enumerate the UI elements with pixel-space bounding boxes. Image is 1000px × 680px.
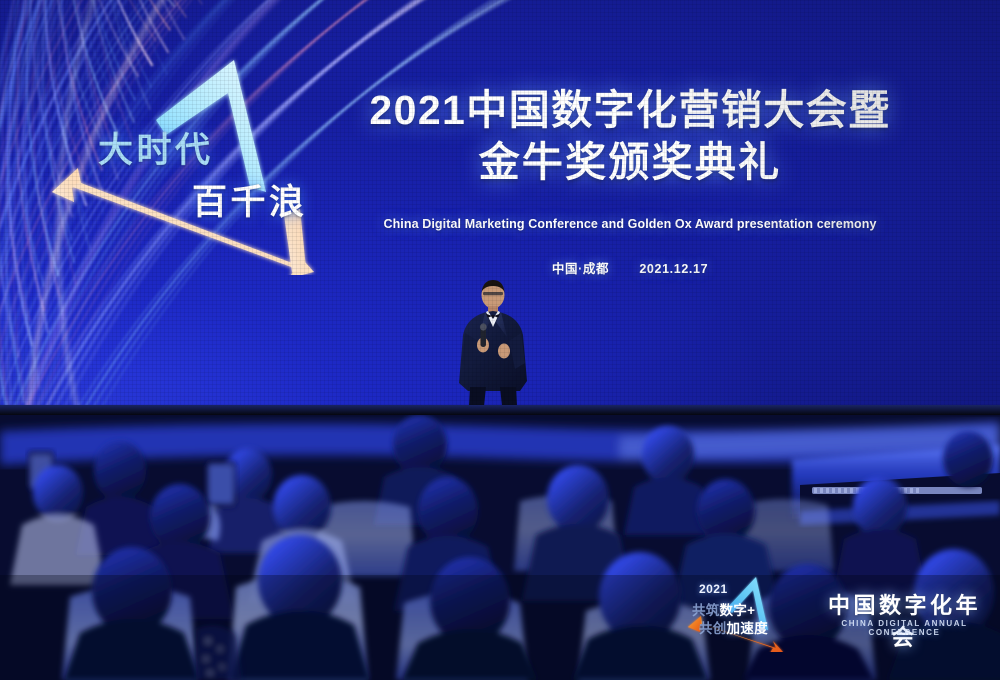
headline-meta: 中国·成都 2021.12.17 [330, 258, 930, 277]
stage-speaker [438, 275, 548, 425]
event-location: 中国·成都 [552, 262, 609, 276]
headline-line-2: 金牛奖颁奖典礼 [330, 136, 930, 188]
event-slogan-emblem: 大时代 百千浪 [48, 40, 348, 275]
annual-conference-logo: 中国数字化年会 CHINA DIGITAL ANNUAL CONFERENCE [817, 583, 992, 643]
headline-subtitle-en: China Digital Marketing Conference and G… [330, 217, 930, 231]
logo-row1-bright: 数字+ [720, 603, 756, 618]
slogan-line-2: 百千浪 [192, 174, 308, 225]
logo-row2-dim: 共创 [699, 621, 727, 636]
conference-headline-block: 2021中国数字化营销大会暨 金牛奖颁奖典礼 China Digital Mar… [330, 84, 930, 277]
headline-line-1: 2021中国数字化营销大会暨 [330, 84, 930, 136]
event-date: 2021.12.17 [639, 262, 708, 276]
annual-conference-en: CHINA DIGITAL ANNUAL CONFERENCE [817, 619, 992, 637]
logo-year: 2021 [699, 582, 728, 596]
logo-row1-dim: 共筑 [692, 603, 720, 618]
logo-row-2: 共创加速度 [699, 617, 768, 637]
photo-scene: 大时代 百千浪 2021中国数字化营销大会暨 金牛奖颁奖典礼 China Dig… [0, 0, 1000, 680]
digital-acceleration-logo: 2021 共筑数字+ 共创加速度 [682, 574, 807, 652]
speaker-silhouette [438, 275, 548, 425]
slogan-line-1: 大时代 [98, 122, 214, 173]
logo-row2-bright: 加速度 [727, 621, 768, 636]
logo-row-1: 共筑数字+ [692, 599, 755, 619]
bottom-logo-bar: 2021 共筑数字+ 共创加速度 中国数字化年会 CHINA DIGITAL A… [682, 574, 992, 652]
